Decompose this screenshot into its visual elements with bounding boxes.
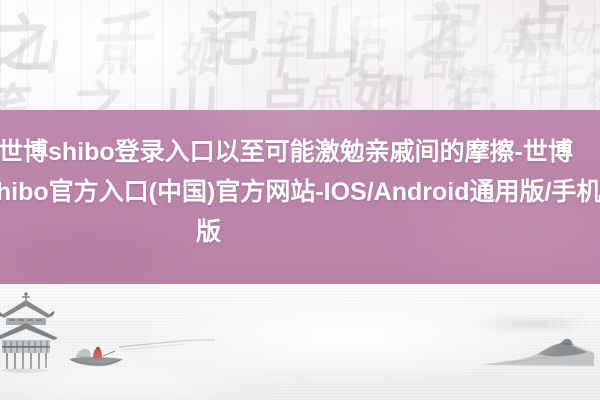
boat-wake-icon <box>118 338 218 352</box>
red-robed-figure <box>93 348 102 358</box>
headline-line-2: shibo官方入口(中国)官方网站-IOS/Android通用版/手机 <box>0 172 600 212</box>
waterside-pavilion-icon <box>0 290 62 376</box>
headline-text: 世博shibo登录入口以至可能激勉亲戚间的摩擦-世博 shibo官方入口(中国)… <box>0 132 600 252</box>
ink-wash-landscape <box>0 284 600 400</box>
fishing-boat-icon <box>66 342 126 370</box>
banner-image: 之 千 记 山 之 点 如 声 山 点 如 千 记 乱 书 之 笔 之 山 点 … <box>0 0 600 400</box>
calligraphy-background: 之 千 记 山 之 点 如 声 山 点 如 千 记 乱 书 之 笔 之 山 点 … <box>0 0 600 112</box>
calligraphy-glyph-layer: 之 千 记 山 之 点 如 声 山 点 如 千 记 乱 书 之 笔 之 山 点 … <box>0 0 600 112</box>
headline-line-3: 版 <box>196 212 600 252</box>
distant-islet-icon <box>478 332 596 368</box>
headline-line-1: 世博shibo登录入口以至可能激勉亲戚间的摩擦-世博 <box>0 132 600 172</box>
headline-band: 世博shibo登录入口以至可能激勉亲戚间的摩擦-世博 shibo官方入口(中国)… <box>0 110 600 284</box>
